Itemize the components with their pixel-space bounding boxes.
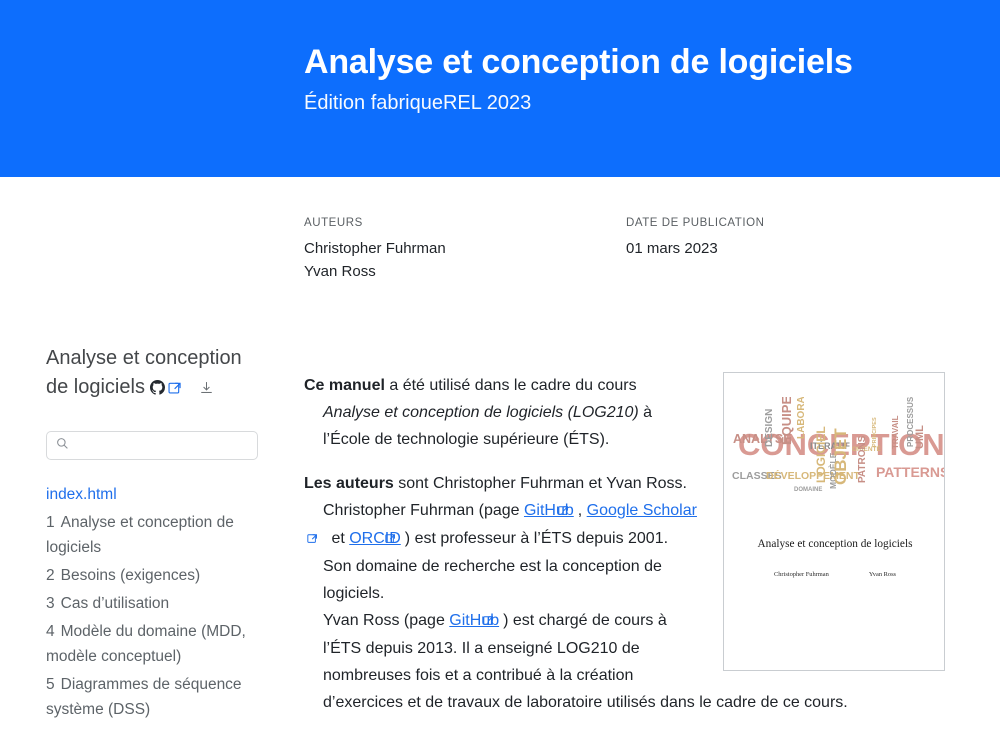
- paragraph-authors-text-4: et: [327, 530, 349, 547]
- wordcloud-word: ÉQUIPE: [779, 397, 794, 445]
- publication-date-column: DATE DE PUBLICATION 01 mars 2023: [626, 214, 926, 283]
- cover-title: Analyse et conception de logiciels: [724, 538, 945, 550]
- publication-date-value: 01 mars 2023: [626, 237, 926, 260]
- toc-item-4[interactable]: 4Modèle du domaine (MDD, modèle conceptu…: [46, 619, 260, 669]
- toc-label-5: Diagrammes de séquence système (DSS): [46, 676, 242, 718]
- authors-label: AUTEURS: [304, 214, 626, 232]
- toc-number-5: 5: [46, 676, 55, 693]
- authors-column: AUTEURS Christopher Fuhrman Yvan Ross: [304, 214, 626, 283]
- toc-label-3: Cas d’utilisation: [61, 595, 170, 612]
- toc-label-2: Besoins (exigences): [61, 567, 201, 584]
- toc-number-3: 3: [46, 595, 55, 612]
- github-icon[interactable]: [150, 380, 165, 395]
- wordcloud-word: PRINCIPES: [872, 417, 878, 447]
- link-google-scholar[interactable]: Google Scholar: [587, 502, 697, 519]
- cover-authors: Christopher Fuhrman Yvan Ross: [724, 571, 945, 578]
- book-cover-wordcloud: CONCEPTIONANALYSEPATTERNSCLASSESDÉVELOPP…: [724, 397, 945, 529]
- table-of-contents: index.html 1Analyse et conception de log…: [46, 482, 260, 722]
- wordcloud-word: PATRONS: [857, 435, 868, 483]
- toc-label-4: Modèle du domaine (MDD, modèle conceptue…: [46, 623, 246, 665]
- wordcloud-word: UML: [914, 425, 926, 449]
- download-icon[interactable]: [199, 380, 214, 395]
- paragraph-manual-text-1: a été utilisé dans le cadre du cours: [385, 377, 637, 394]
- sidebar: Analyse et conception de logiciels index…: [46, 344, 260, 725]
- paragraph-manual-course: Analyse et conception de logiciels (LOG2…: [323, 404, 639, 421]
- wordcloud-word: DESIGN: [764, 409, 775, 447]
- paragraph-authors-text-6: Yvan Ross (page: [323, 612, 449, 629]
- banner-content: Analyse et conception de logiciels Éditi…: [304, 40, 934, 117]
- toc-item-index[interactable]: index.html: [46, 482, 260, 507]
- wordcloud-word: DOMAINE: [794, 487, 822, 493]
- toc-item-5[interactable]: 5Diagrammes de séquence système (DSS): [46, 672, 260, 722]
- page-subtitle: Édition fabriqueREL 2023: [304, 89, 934, 117]
- sidebar-book-title: Analyse et conception de logiciels: [46, 344, 260, 402]
- search-icon: [56, 437, 69, 455]
- author-name-2: Yvan Ross: [304, 260, 626, 283]
- author-name-1: Christopher Fuhrman: [304, 237, 626, 260]
- search-input[interactable]: [75, 437, 255, 454]
- publication-metadata: AUTEURS Christopher Fuhrman Yvan Ross DA…: [304, 214, 934, 283]
- wordcloud-word: OBJET: [831, 428, 850, 485]
- main-content: CONCEPTIONANALYSEPATTERNSCLASSESDÉVELOPP…: [304, 372, 945, 733]
- wordcloud-word: LABORATOIRE: [796, 397, 807, 439]
- toc-number-2: 2: [46, 567, 55, 584]
- toc-number-4: 4: [46, 623, 55, 640]
- paragraph-manual-lead: Ce manuel: [304, 377, 385, 394]
- paragraph-authors-text-3: ,: [578, 502, 587, 519]
- wordcloud-word: TRAVAIL: [891, 415, 900, 449]
- search-box[interactable]: [46, 431, 258, 460]
- toc-label-1: Analyse et conception de logiciels: [46, 514, 234, 556]
- toc-item-1[interactable]: 1Analyse et conception de logiciels: [46, 510, 260, 560]
- cover-author-2: Yvan Ross: [869, 571, 896, 578]
- sidebar-icon-group: [150, 380, 214, 395]
- publication-date-label: DATE DE PUBLICATION: [626, 214, 926, 232]
- cover-author-1: Christopher Fuhrman: [774, 571, 829, 578]
- wordcloud-word: LOGICIEL: [814, 426, 828, 483]
- paragraph-authors-text-1: sont Christopher Fuhrman et Yvan Ross.: [394, 475, 687, 492]
- paragraph-authors-text-2: Christopher Fuhrman (page: [323, 502, 524, 519]
- external-link-icon[interactable]: [168, 381, 182, 395]
- book-cover-image: CONCEPTIONANALYSEPATTERNSCLASSESDÉVELOPP…: [723, 372, 945, 671]
- paragraph-authors-lead: Les auteurs: [304, 475, 394, 492]
- toc-item-3[interactable]: 3Cas d’utilisation: [46, 591, 260, 616]
- toc-item-2[interactable]: 2Besoins (exigences): [46, 563, 260, 588]
- wordcloud-word: PATTERNS: [876, 464, 945, 480]
- toc-number-1: 1: [46, 514, 55, 531]
- page-header-banner: Analyse et conception de logiciels Éditi…: [0, 0, 1000, 177]
- page-title: Analyse et conception de logiciels: [304, 40, 934, 84]
